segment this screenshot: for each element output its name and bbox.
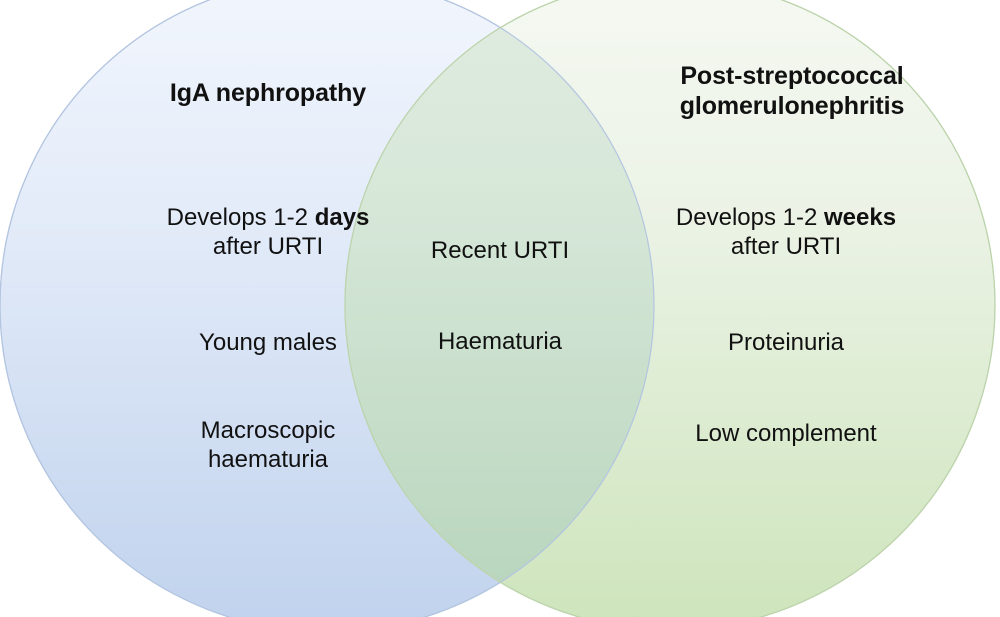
venn-diagram: IgA nephropathy Develops 1-2 days after … [0, 0, 1000, 617]
venn-shapes [0, 0, 1000, 617]
